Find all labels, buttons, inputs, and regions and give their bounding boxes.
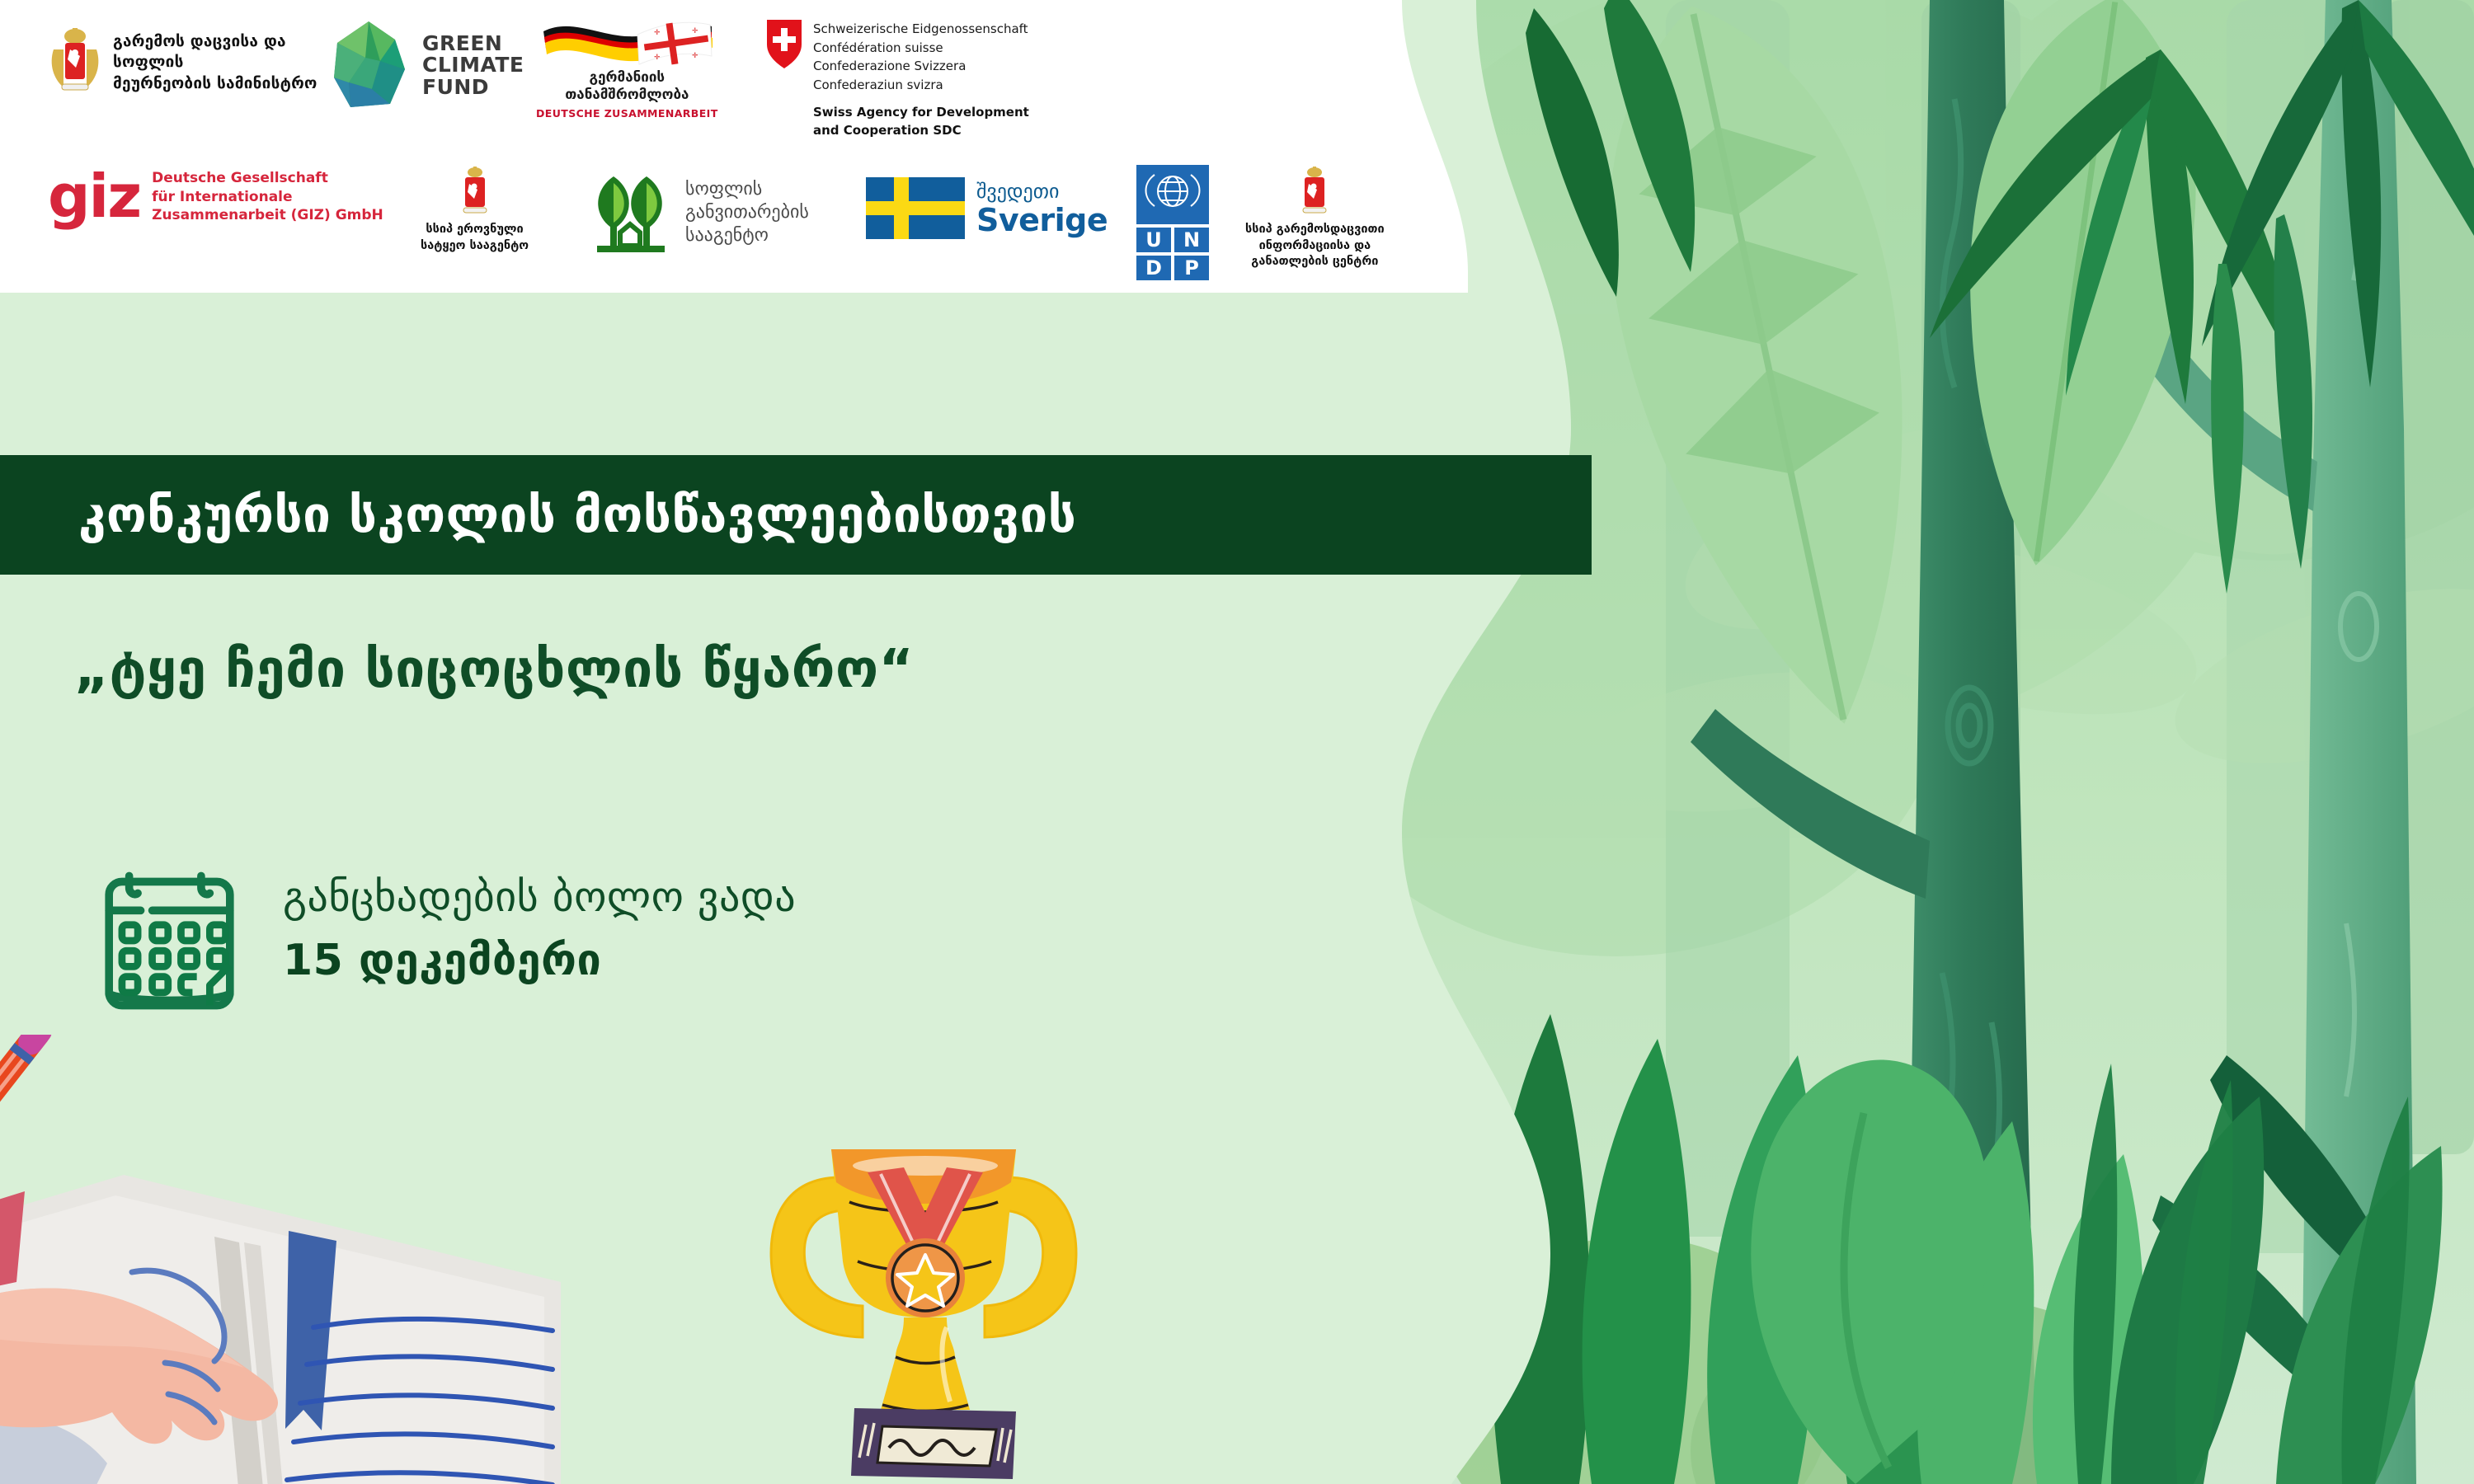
georgia-coat-of-arms-icon	[1296, 165, 1333, 216]
title-band: კონკურსი სკოლის მოსწავლეებისთვის	[0, 455, 1592, 575]
logo-ministry-text: გარემოს დაცვისა და სოფლის მეურნეობის სამ…	[113, 31, 360, 95]
svg-text:D: D	[1145, 256, 1162, 279]
svg-text:✛: ✛	[692, 27, 698, 35]
swiss-shield-icon	[767, 20, 802, 69]
logo-sdc-languages: Schweizerische Eidgenossenschaft Confédé…	[813, 20, 1029, 94]
svg-text:P: P	[1184, 256, 1199, 279]
logo-eiec-text: სსიპ გარემოსდაცვითი ინფორმაციისა და განა…	[1245, 222, 1385, 270]
logo-forestry-text: სსიპ ეროვნული სატყეო სააგენტო	[421, 222, 529, 254]
deadline-date: 15 დეკემბერი	[283, 936, 796, 985]
deadline-text: განცხადების ბოლო ვადა 15 დეკემბერი	[283, 873, 796, 985]
contest-subtitle: „ტყე ჩემი სიცოცხლის წყარო“	[74, 639, 914, 700]
georgia-coat-of-arms-icon	[457, 165, 493, 216]
page-title: კონკურსი სკოლის მოსწავლეებისთვის	[78, 486, 1076, 544]
deadline-block: განცხადების ბოლო ვადა 15 დეკემბერი	[97, 862, 796, 1014]
poster: გარემოს დაცვისა და სოფლის მეურნეობის სამ…	[0, 0, 2474, 1484]
germany-georgia-flag-ribbon-icon: ✛✛ ✛✛	[539, 15, 716, 66]
svg-text:✛: ✛	[654, 54, 661, 62]
deadline-label: განცხადების ბოლო ვადა	[283, 873, 796, 921]
logo-gcf-text: GREEN CLIMATE FUND	[422, 33, 524, 99]
logo-sweden-sv: Sverige	[976, 204, 1108, 236]
logo-green-climate-fund: GREEN CLIMATE FUND	[326, 18, 524, 113]
logo-giz-text: Deutsche Gesellschaft für Internationale…	[152, 169, 383, 225]
svg-text:N: N	[1183, 228, 1200, 251]
logo-swiss-sdc: Schweizerische Eidgenossenschaft Confédé…	[767, 20, 1029, 140]
logo-german-subtext: DEUTSCHE ZUSAMMENARBEIT	[536, 107, 718, 120]
calendar-icon	[97, 862, 242, 1014]
logo-national-forestry-agency: სსიპ ეროვნული სატყეო სააგენტო	[421, 165, 529, 254]
logo-undp: UN DP	[1136, 165, 1209, 280]
notebook-pencil-icon	[0, 1035, 561, 1484]
logo-bar: გარემოს დაცვისა და სოფლის მეურნეობის სამ…	[0, 0, 1451, 293]
logo-environmental-info-center: სსიპ გარემოსდაცვითი ინფორმაციისა და განა…	[1245, 165, 1385, 270]
logo-giz: giz Deutsche Gesellschaft für Internatio…	[48, 169, 383, 225]
logo-sdc-agency: Swiss Agency for Development and Coopera…	[813, 104, 1029, 140]
svg-text:U: U	[1145, 228, 1162, 251]
georgia-coat-of-arms-icon	[45, 25, 105, 101]
svg-text:✛: ✛	[654, 29, 661, 37]
logo-german-cooperation: ✛✛ ✛✛ გერმანიის თანამშრომლობა DEUTSCHE Z…	[536, 15, 718, 120]
trees-house-icon	[587, 171, 674, 254]
giz-wordmark-icon: giz	[48, 173, 140, 221]
sweden-flag-icon	[866, 177, 965, 239]
logo-rural-development-agency: სოფლის განვითარების სააგენტო	[587, 171, 809, 254]
svg-text:✛: ✛	[692, 52, 698, 60]
logo-german-text: გერმანიის თანამშრომლობა	[565, 69, 689, 105]
logo-sweden-geo: შვედეთი	[976, 181, 1108, 201]
gcf-gem-icon	[326, 18, 412, 113]
logo-ministry-of-environment: გარემოს დაცვისა და სოფლის მეურნეობის სამ…	[45, 25, 360, 101]
trophy-icon	[742, 1129, 1105, 1484]
logo-rda-text: სოფლის განვითარების სააგენტო	[685, 178, 809, 247]
logo-sweden: შვედეთი Sverige	[866, 177, 1108, 239]
un-laurel-globe-icon: UN DP	[1136, 165, 1209, 280]
